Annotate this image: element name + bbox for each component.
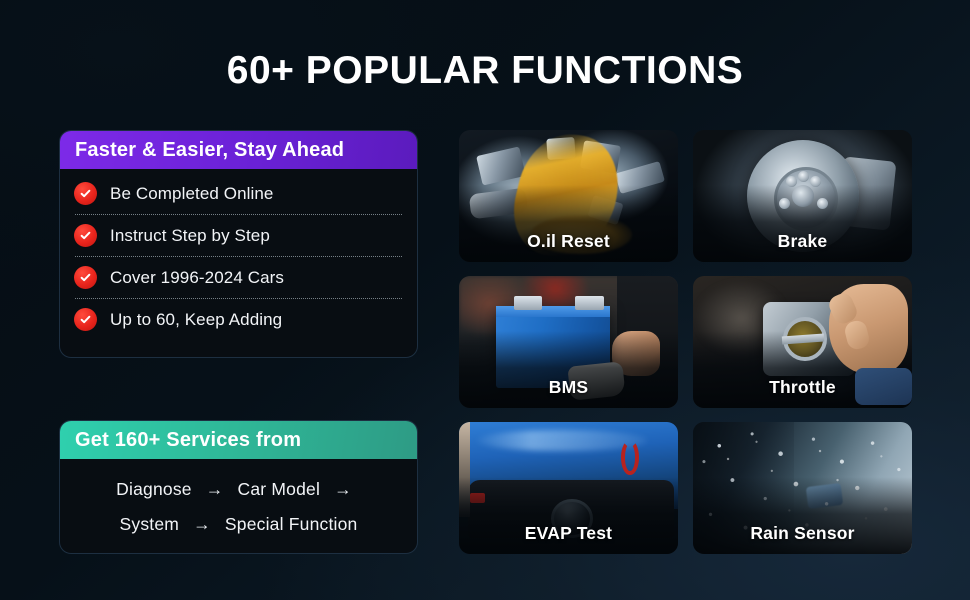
list-divider xyxy=(75,214,402,215)
function-tile-oil-reset: O.il Reset xyxy=(459,130,678,262)
function-tile-evap-test: EVAP Test xyxy=(459,422,678,554)
arrow-right-icon: → xyxy=(325,479,361,499)
page-title: 60+ POPULAR FUNCTIONS xyxy=(0,49,970,93)
list-item: Up to 60, Keep Adding xyxy=(74,299,403,340)
tile-label: Brake xyxy=(693,231,912,252)
feature-label: Be Completed Online xyxy=(110,184,274,204)
function-tile-bms: BMS xyxy=(459,276,678,408)
check-circle-icon xyxy=(74,308,97,331)
feature-label: Instruct Step by Step xyxy=(110,226,270,246)
tile-label: EVAP Test xyxy=(459,523,678,544)
promo-banner: 60+ POPULAR FUNCTIONS Faster & Easier, S… xyxy=(0,0,970,600)
flow-step-diagnose: Diagnose xyxy=(116,479,192,499)
flow-step-car-model: Car Model xyxy=(238,479,321,499)
check-circle-icon xyxy=(74,266,97,289)
list-divider xyxy=(75,256,402,257)
function-tile-brake: Brake xyxy=(693,130,912,262)
services-banner: Get 160+ Services from xyxy=(60,421,417,459)
tile-label: Rain Sensor xyxy=(693,523,912,544)
check-circle-icon xyxy=(74,182,97,205)
list-divider xyxy=(75,298,402,299)
function-tile-grid: O.il Reset Brake xyxy=(459,130,912,554)
function-tile-throttle: Throttle xyxy=(693,276,912,408)
features-banner: Faster & Easier, Stay Ahead xyxy=(60,131,417,169)
service-flow-row-2: System → Special Function xyxy=(72,507,405,542)
list-item: Cover 1996-2024 Cars xyxy=(74,257,403,298)
arrow-right-icon: → xyxy=(184,514,220,534)
tile-label: O.il Reset xyxy=(459,231,678,252)
service-flow: Diagnose → Car Model → System → Special … xyxy=(60,459,417,542)
flow-step-special-function: Special Function xyxy=(225,514,358,534)
check-circle-icon xyxy=(74,224,97,247)
feature-label: Up to 60, Keep Adding xyxy=(110,310,282,330)
services-panel: Get 160+ Services from Diagnose → Car Mo… xyxy=(59,420,418,554)
flow-step-system: System xyxy=(120,514,180,534)
list-item: Be Completed Online xyxy=(74,173,403,214)
tile-label: BMS xyxy=(459,377,678,398)
service-flow-row-1: Diagnose → Car Model → xyxy=(72,472,405,507)
features-list: Be Completed Online Instruct Step by Ste… xyxy=(60,169,417,346)
feature-label: Cover 1996-2024 Cars xyxy=(110,268,284,288)
features-panel: Faster & Easier, Stay Ahead Be Completed… xyxy=(59,130,418,358)
list-item: Instruct Step by Step xyxy=(74,215,403,256)
arrow-right-icon: → xyxy=(197,479,233,499)
function-tile-rain-sensor: Rain Sensor xyxy=(693,422,912,554)
